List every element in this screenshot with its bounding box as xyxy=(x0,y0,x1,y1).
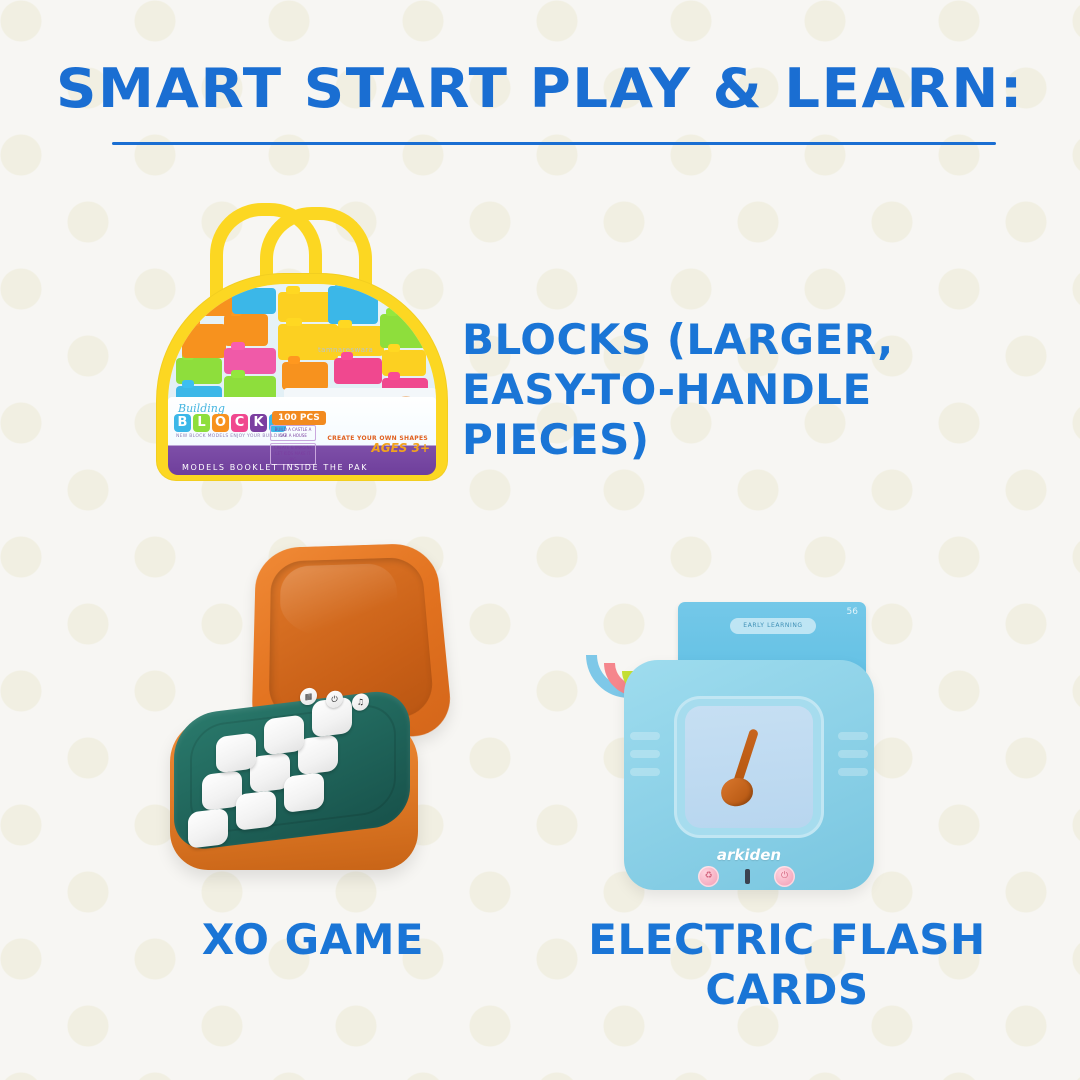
label-ages-badge: AGES 3+ xyxy=(371,441,430,455)
flash-card-reader-body: arkiden ♻ ⏻ xyxy=(624,660,874,890)
screen-frame xyxy=(674,696,824,838)
xo-key[interactable] xyxy=(264,715,304,756)
brand-label: arkiden xyxy=(624,846,874,864)
product-image-blocks-bag: tamnareswara xyxy=(152,195,452,485)
caption-blocks-line-2: EASY-TO-HANDLE PIECES) xyxy=(462,365,1022,465)
caption-xo-game-line-1: XO GAME xyxy=(78,915,548,965)
body-ridge xyxy=(630,732,660,740)
bag-product-label: Building B L O C K S NEW BLOCK MODELS EN… xyxy=(168,397,436,475)
xo-key[interactable] xyxy=(236,790,276,831)
label-bullet-1: BUILD A CASTLE A CAR A HOUSE xyxy=(270,425,316,441)
image-watermark: tamnareswara xyxy=(318,346,373,354)
xo-key[interactable] xyxy=(298,734,338,775)
label-piece-count: 100 PCS xyxy=(272,411,326,425)
body-ridge xyxy=(630,768,660,776)
xo-key[interactable] xyxy=(216,732,256,773)
xo-key[interactable] xyxy=(284,772,324,813)
product-image-xo-game: ▦ ⏻ ♫ xyxy=(168,536,444,896)
brand-letter: K xyxy=(250,414,267,432)
bag-body: tamnareswara xyxy=(156,273,448,481)
brand-letter: B xyxy=(174,414,191,432)
caption-blocks: BLOCKS (LARGER, EASY-TO-HANDLE PIECES) xyxy=(462,315,1022,465)
caption-xo-game: XO GAME xyxy=(78,915,548,965)
label-bullets: BUILD A CASTLE A CAR A HOUSE CREATE & IM… xyxy=(270,425,316,467)
power-button[interactable]: ⏻ xyxy=(774,866,795,887)
flash-card-number: 56 xyxy=(847,607,858,617)
page-title: SMART START PLAY & LEARN: xyxy=(0,58,1080,120)
xo-key[interactable] xyxy=(188,808,228,849)
repeat-button[interactable]: ♻ xyxy=(698,866,719,887)
body-ridge xyxy=(838,750,868,758)
brand-letter: L xyxy=(193,414,210,432)
title-underline xyxy=(112,142,996,145)
brand-letter: O xyxy=(212,414,229,432)
product-image-flash-cards: 56 EARLY LEARNING spoon arkiden ♻ ⏻ xyxy=(588,598,888,898)
body-ridge xyxy=(838,768,868,776)
microphone-slot xyxy=(745,869,750,884)
xo-keypad-panel: ▦ ⏻ ♫ xyxy=(174,688,410,853)
brand-letter: C xyxy=(231,414,248,432)
label-bullet-2: CREATE & IMAGINE LET KIDS MAKE IT BIG xyxy=(270,443,316,465)
caption-blocks-line-1: BLOCKS (LARGER, xyxy=(462,315,1022,365)
flash-card-logo: EARLY LEARNING xyxy=(730,618,816,634)
screen xyxy=(685,706,813,828)
poster-canvas: SMART START PLAY & LEARN: xyxy=(0,0,1080,1080)
caption-flash-cards: ELECTRIC FLASH CARDS xyxy=(552,915,1022,1015)
body-ridge xyxy=(630,750,660,758)
spoon-illustration-bowl xyxy=(718,775,756,810)
header: SMART START PLAY & LEARN: xyxy=(0,58,1080,120)
caption-flash-cards-line-2: CARDS xyxy=(552,965,1022,1015)
label-footer-text: MODELS BOOKLET INSIDE THE PAK xyxy=(182,463,368,472)
body-ridge xyxy=(838,732,868,740)
caption-flash-cards-line-1: ELECTRIC FLASH xyxy=(552,915,1022,965)
